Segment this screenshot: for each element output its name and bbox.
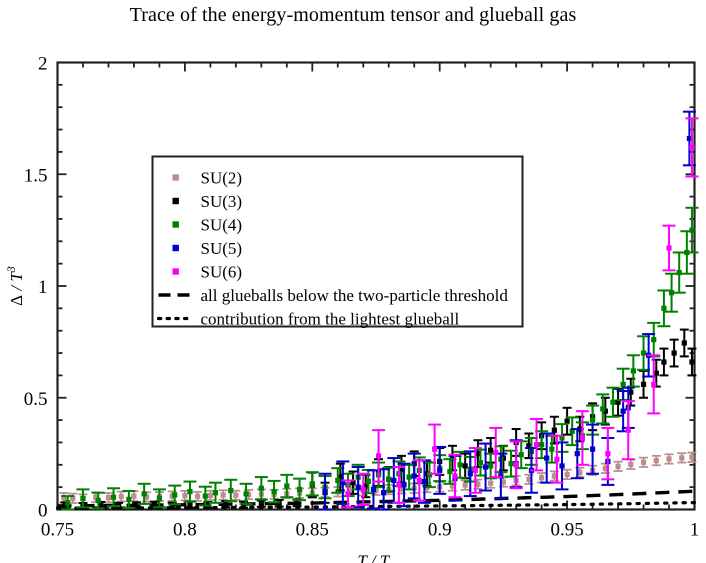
data-point (381, 490, 386, 495)
chart-canvas: 0.750.80.850.90.95100.511.52 T / TcΔ / T… (0, 0, 706, 563)
data-point (565, 419, 570, 424)
data-point (386, 477, 391, 482)
data-point (412, 473, 417, 478)
data-point (641, 350, 646, 355)
data-point (131, 493, 136, 498)
data-point (126, 497, 131, 502)
data-point (356, 485, 361, 490)
legend-label: contribution from the lightest glueball (201, 310, 460, 329)
data-point (111, 495, 116, 500)
data-point (396, 482, 401, 487)
data-point (142, 491, 147, 496)
legend-label: SU(5) (201, 239, 243, 258)
data-point (689, 455, 694, 460)
data-point (559, 463, 564, 468)
legend-marker-icon (173, 174, 179, 180)
data-point (519, 452, 524, 457)
x-tick-label: 0.9 (428, 520, 452, 541)
data-point (679, 455, 684, 460)
data-point (366, 479, 371, 484)
data-point (407, 474, 412, 479)
legend-label: SU(3) (201, 192, 243, 211)
data-point (508, 461, 513, 466)
data-point (187, 489, 192, 494)
data-point (473, 468, 478, 473)
data-point (223, 502, 228, 507)
data-point (661, 359, 666, 364)
legend-label: SU(2) (201, 169, 243, 188)
data-point (391, 478, 396, 483)
data-point (600, 406, 605, 411)
data-point (631, 368, 636, 373)
data-point (243, 491, 248, 496)
data-point (488, 448, 493, 453)
data-point (493, 450, 498, 455)
data-point (463, 483, 468, 488)
legend-box: SU(2)SU(3)SU(4)SU(5)SU(6)all glueballs b… (153, 157, 523, 329)
data-point (96, 498, 101, 503)
data-point (221, 492, 226, 497)
data-point (651, 337, 656, 342)
data-point (651, 382, 656, 387)
data-point (335, 478, 340, 483)
y-tick-label: 1 (38, 277, 48, 298)
data-point (539, 442, 544, 447)
data-point (203, 493, 208, 498)
data-point (447, 469, 452, 474)
data-point (580, 435, 585, 440)
x-tick-label: 0.85 (296, 520, 329, 541)
data-point (432, 447, 437, 452)
data-point (376, 453, 381, 458)
data-point (182, 493, 187, 498)
data-point (483, 464, 488, 469)
data-point (371, 487, 376, 492)
legend-marker-icon (173, 221, 179, 227)
data-point (213, 490, 218, 495)
y-axis-title: Δ / T3 (4, 266, 26, 306)
data-point (106, 495, 111, 500)
data-point (457, 462, 462, 467)
data-point (401, 482, 406, 487)
data-point (463, 463, 468, 468)
legend-marker-icon (173, 268, 179, 274)
data-point (345, 491, 350, 496)
data-point (666, 456, 671, 461)
data-point (641, 460, 646, 465)
data-point (514, 462, 519, 467)
data-point (172, 492, 177, 497)
data-point (452, 473, 457, 478)
legend-entry[interactable]: contribution from the lightest glueball (159, 310, 460, 329)
data-point (65, 500, 70, 505)
legend-entry[interactable]: all glueballs below the two-particle thr… (159, 286, 509, 305)
data-point (284, 483, 289, 488)
y-tick-label: 0 (38, 501, 48, 522)
data-point (661, 306, 666, 311)
data-point (590, 418, 595, 423)
x-axis-title: T / Tc (357, 552, 395, 563)
data-point (626, 428, 631, 433)
data-point (534, 442, 539, 447)
data-point (672, 350, 677, 355)
data-point (689, 359, 694, 364)
data-point (80, 496, 85, 501)
data-point (605, 451, 610, 456)
data-point (689, 145, 694, 150)
data-point (437, 468, 442, 473)
data-point (208, 493, 213, 498)
data-point (259, 501, 264, 506)
data-point (297, 487, 302, 492)
data-point (628, 462, 633, 467)
x-tick-label: 0.8 (173, 520, 197, 541)
data-point (590, 447, 595, 452)
legend-marker-icon (173, 198, 179, 204)
data-point (271, 489, 276, 494)
data-point (322, 489, 327, 494)
data-point (310, 481, 315, 486)
legend-label: all glueballs below the two-particle thr… (201, 286, 509, 305)
x-tick-label: 0.75 (41, 520, 74, 541)
data-point (417, 478, 422, 483)
data-point (682, 340, 687, 345)
data-point (654, 458, 659, 463)
data-point (195, 494, 200, 499)
data-point (187, 502, 192, 507)
data-point (621, 409, 626, 414)
data-point (615, 464, 620, 469)
data-point (422, 479, 427, 484)
y-tick-label: 1.5 (24, 165, 48, 186)
data-point (478, 460, 483, 465)
data-point (565, 472, 570, 477)
legend-label: SU(6) (201, 263, 243, 282)
data-point (554, 457, 559, 462)
data-point (610, 400, 615, 405)
data-point (259, 486, 264, 491)
data-point (689, 228, 694, 233)
data-point (233, 493, 238, 498)
data-point (157, 496, 162, 501)
data-point (361, 487, 366, 492)
data-point (228, 488, 233, 493)
y-tick-label: 0.5 (24, 389, 48, 410)
data-point (544, 455, 549, 460)
data-point (539, 475, 544, 480)
chart-figure: 0.750.80.850.90.95100.511.52 T / TcΔ / T… (0, 0, 706, 563)
data-point (552, 428, 557, 433)
legend-label: SU(4) (201, 216, 243, 235)
data-point (666, 245, 671, 250)
data-point (488, 463, 493, 468)
data-point (488, 481, 493, 486)
data-point (119, 494, 124, 499)
x-tick-label: 1 (690, 520, 700, 541)
data-point (549, 447, 554, 452)
data-point (468, 471, 473, 476)
data-point (575, 451, 580, 456)
legend-marker-icon (173, 245, 179, 251)
data-point (621, 382, 626, 387)
x-tick-label: 0.95 (550, 520, 583, 541)
data-point (641, 382, 646, 387)
y-tick-label: 2 (38, 54, 48, 75)
